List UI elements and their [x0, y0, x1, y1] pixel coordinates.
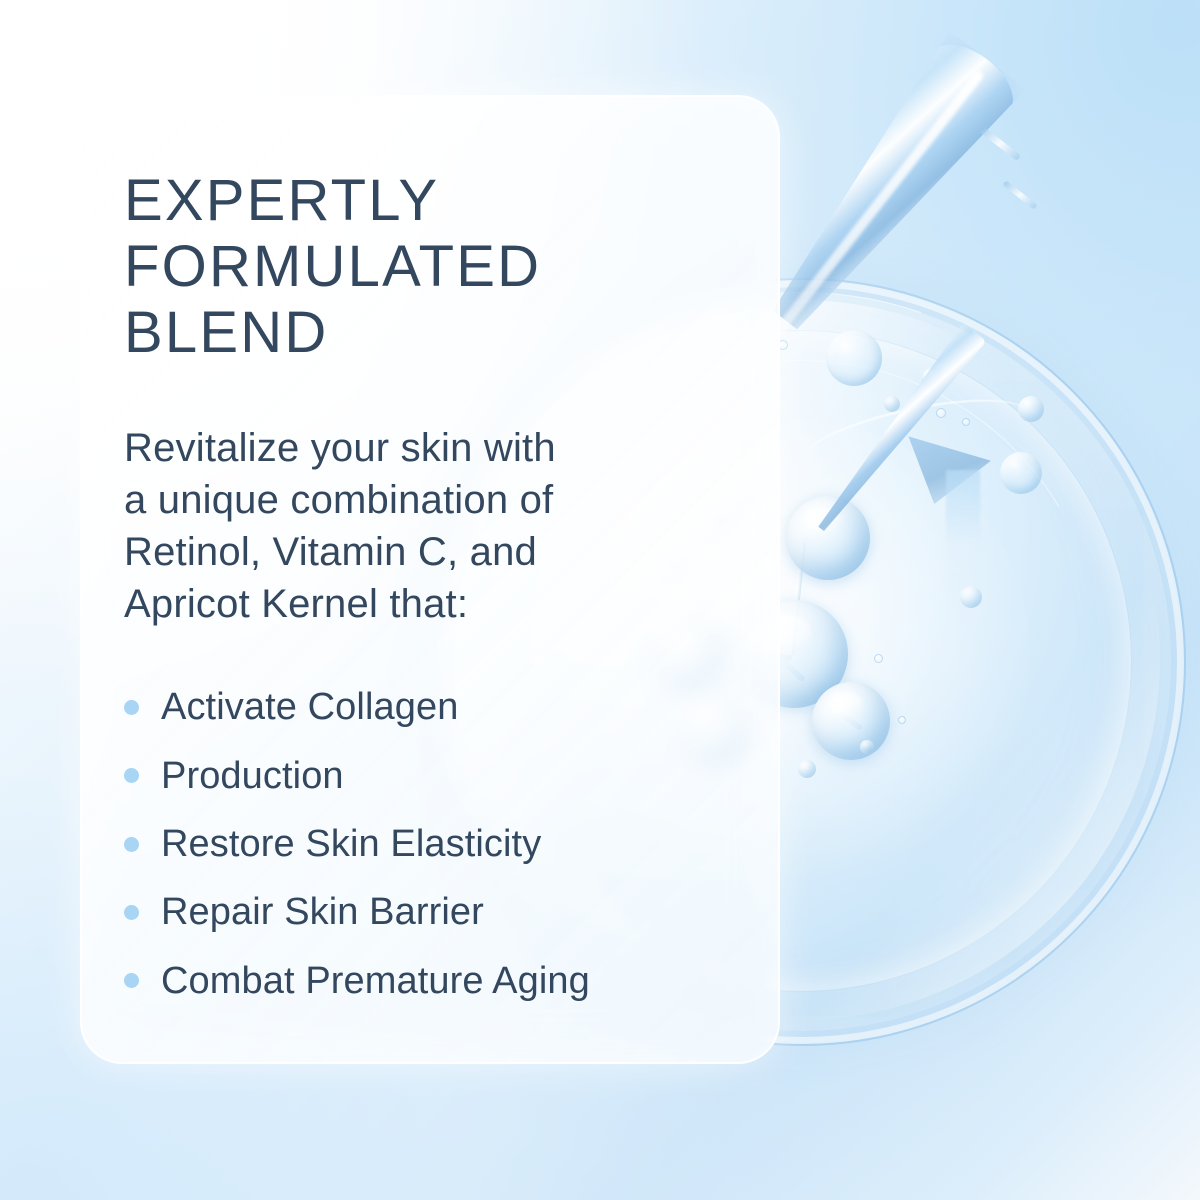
- marketing-canvas: EXPERTLY FORMULATED BLEND Revitalize you…: [0, 0, 1200, 1200]
- intro-paragraph: Revitalize your skin with a unique combi…: [124, 366, 784, 630]
- benefit-label: Production: [161, 753, 344, 799]
- benefit-list: Activate Collagen Production Restore Ski…: [124, 630, 784, 1004]
- benefit-label: Combat Premature Aging: [161, 958, 590, 1004]
- benefit-label: Repair Skin Barrier: [161, 889, 484, 935]
- bubble-small-bottom-right: [860, 740, 874, 754]
- microbubble-h: [898, 716, 906, 724]
- list-item: Repair Skin Barrier: [124, 889, 784, 935]
- bullet-icon: [124, 768, 139, 783]
- bullet-icon: [124, 837, 139, 852]
- list-item: Production: [124, 753, 784, 799]
- pipette-band-lower: [1002, 180, 1037, 209]
- bullet-icon: [124, 700, 139, 715]
- bullet-icon: [124, 973, 139, 988]
- list-item: Activate Collagen: [124, 684, 784, 730]
- benefit-label: Activate Collagen: [161, 684, 458, 730]
- microbubble-f: [874, 654, 883, 663]
- page-title: EXPERTLY FORMULATED BLEND: [124, 168, 784, 366]
- list-item: Restore Skin Elasticity: [124, 821, 784, 867]
- pipette-tip: [809, 323, 987, 538]
- benefit-label: Restore Skin Elasticity: [161, 821, 541, 867]
- card-content: EXPERTLY FORMULATED BLEND Revitalize you…: [124, 168, 784, 1026]
- list-item: Combat Premature Aging: [124, 958, 784, 1004]
- glass-pipette: [790, 96, 1200, 516]
- bubble-small-bottom: [798, 760, 816, 778]
- bullet-icon: [124, 905, 139, 920]
- molecule-atom-bottom-right: [812, 682, 890, 760]
- pipette-band-upper: [979, 126, 1021, 161]
